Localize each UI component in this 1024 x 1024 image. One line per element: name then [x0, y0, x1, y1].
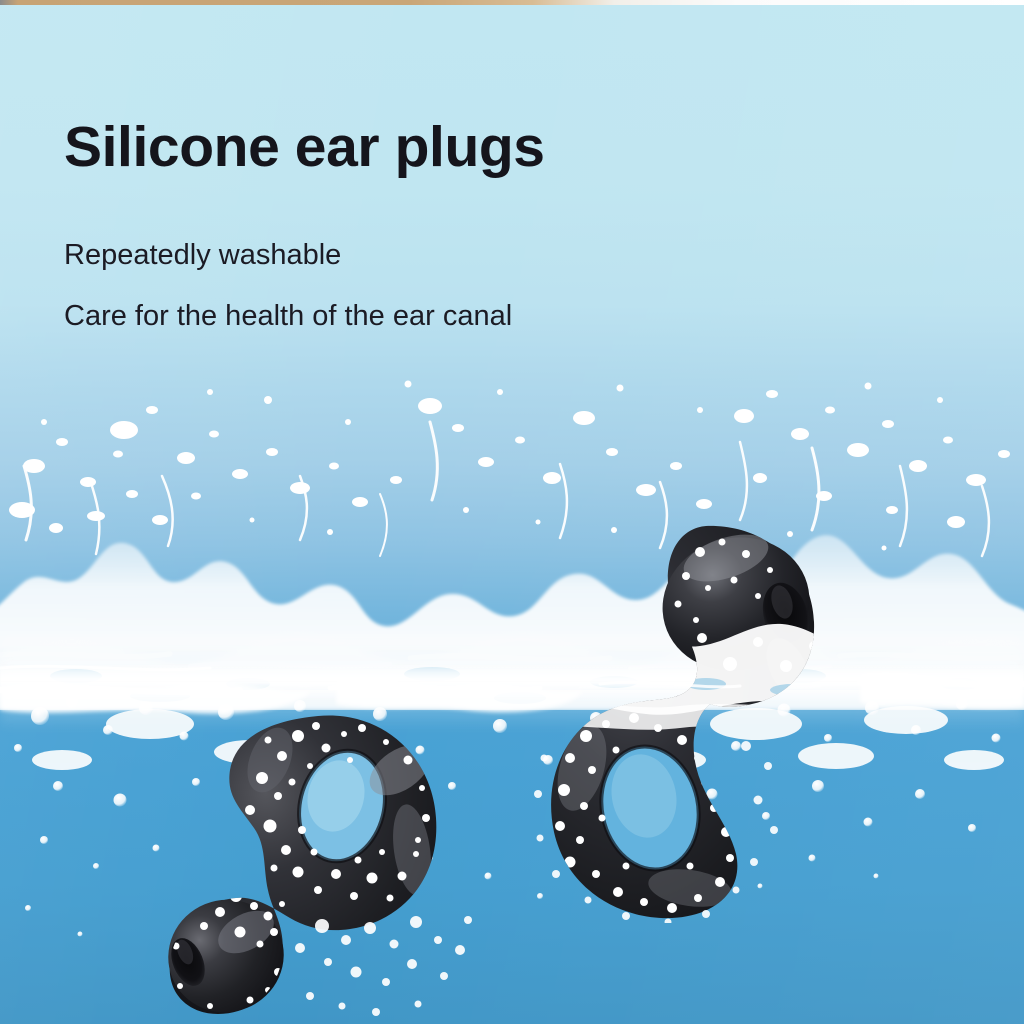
product-poster: Silicone ear plugs Repeatedly washable C…: [0, 0, 1024, 1024]
water-surface-line-secondary: [0, 690, 1024, 700]
page-title: Silicone ear plugs: [64, 118, 545, 177]
top-crop-sliver: [0, 0, 1024, 5]
copy-block: Silicone ear plugs Repeatedly washable C…: [64, 118, 545, 331]
right-silicone-earplug: [530, 518, 840, 923]
left-silicone-earplug: [150, 700, 480, 1024]
subheading-ear-canal-care: Care for the health of the ear canal: [64, 302, 545, 331]
subheading-washable: Repeatedly washable: [64, 241, 545, 270]
